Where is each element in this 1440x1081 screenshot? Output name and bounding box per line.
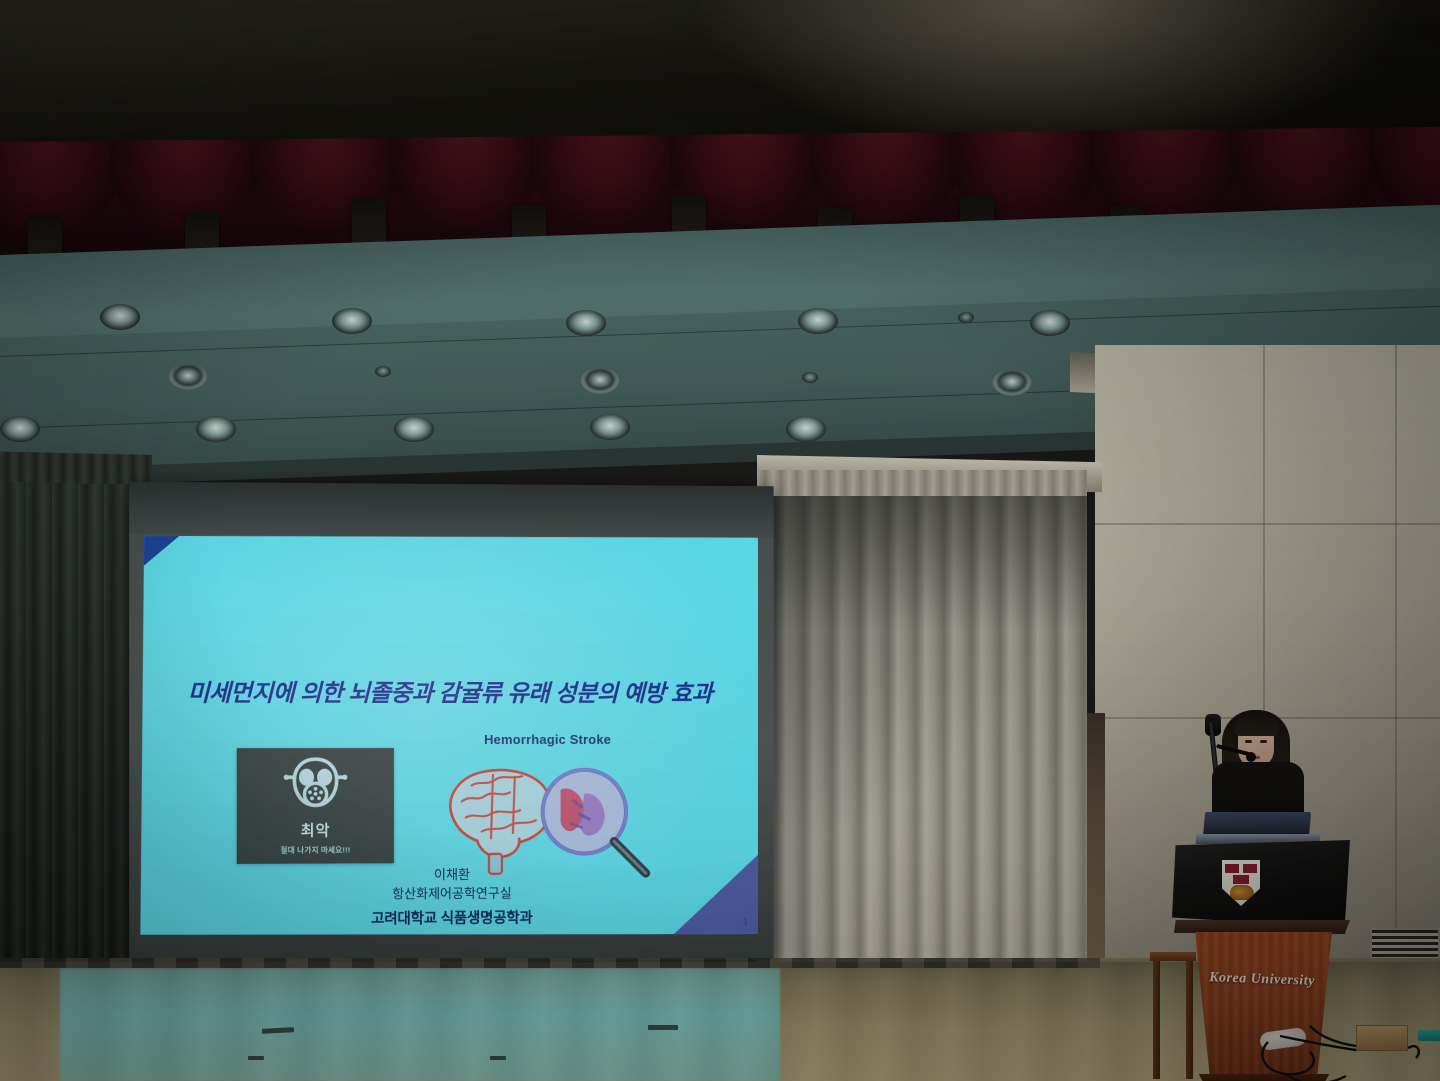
slide-author-block: 이채환 항산화제어공학연구실 (140, 865, 758, 906)
left-stage-curtain (0, 457, 150, 1000)
ceiling-downlight (580, 368, 620, 394)
ceiling-downlight (100, 304, 140, 330)
ceiling-downlight (590, 414, 630, 440)
curtain-track-right (757, 470, 1087, 496)
projection-screen[interactable]: 1 미세먼지에 의한 뇌졸중과 감귤류 유래 성분의 예방 효과 (129, 482, 773, 965)
ceiling-downlight (0, 416, 40, 442)
podium-area: Korea University (1160, 700, 1420, 1060)
floor-marker (248, 1056, 264, 1060)
slide-corner-top-left (140, 534, 181, 569)
ceiling-downlight (566, 310, 606, 336)
department-name: 고려대학교 식품생명공학과 (140, 905, 758, 930)
speaker-fringe (1234, 714, 1279, 736)
floor-cables (1160, 1016, 1420, 1081)
curtain-track-left (0, 452, 152, 485)
ceiling-downlight (196, 416, 236, 442)
ceiling-downlight (394, 416, 434, 442)
curtain-shading (757, 478, 1087, 990)
ceiling-downlight (168, 364, 208, 390)
ceiling-downlight (786, 416, 826, 442)
ceiling-downlight (798, 308, 838, 334)
ceiling-sprinkler (375, 366, 391, 377)
ceiling-downlight (992, 370, 1032, 396)
ceiling-sensor (958, 312, 974, 323)
stage-front-edge (0, 958, 1100, 968)
microphone-capsule (1246, 752, 1256, 762)
gas-mask-card: 최악 절대 나가지 마세요!!! (237, 748, 394, 864)
lab-name: 항산화제어공학연구실 (392, 886, 512, 902)
floor-marker (490, 1056, 506, 1060)
presentation-slide[interactable]: 1 미세먼지에 의한 뇌졸중과 감귤류 유래 성분의 예방 효과 (140, 534, 758, 938)
gas-mask-label: 최악 (301, 819, 331, 840)
power-strip (1418, 1030, 1440, 1041)
stroke-illustration: Hemorrhagic Stroke (433, 732, 662, 882)
ceiling-downlight (1030, 310, 1070, 336)
ceiling-sprinkler (802, 372, 818, 383)
screen-top-bar (129, 482, 773, 538)
gas-mask-icon (282, 755, 348, 815)
podium-lip (1174, 920, 1350, 934)
ceiling-downlight (332, 308, 372, 334)
floor-marker (648, 1025, 678, 1030)
brain-icon (450, 770, 551, 874)
auditorium-scene: 1 미세먼지에 의한 뇌졸중과 감귤류 유래 성분의 예방 효과 (0, 0, 1440, 1081)
gas-mask-sublabel: 절대 나가지 마세요!!! (281, 844, 351, 855)
author-name: 이채환 (434, 867, 470, 882)
stroke-caption: Hemorrhagic Stroke (433, 732, 662, 747)
podium-top (1172, 840, 1350, 928)
slide-title: 미세먼지에 의한 뇌졸중과 감귤류 유래 성분의 예방 효과 (140, 674, 758, 709)
magnifier-icon (543, 770, 646, 874)
